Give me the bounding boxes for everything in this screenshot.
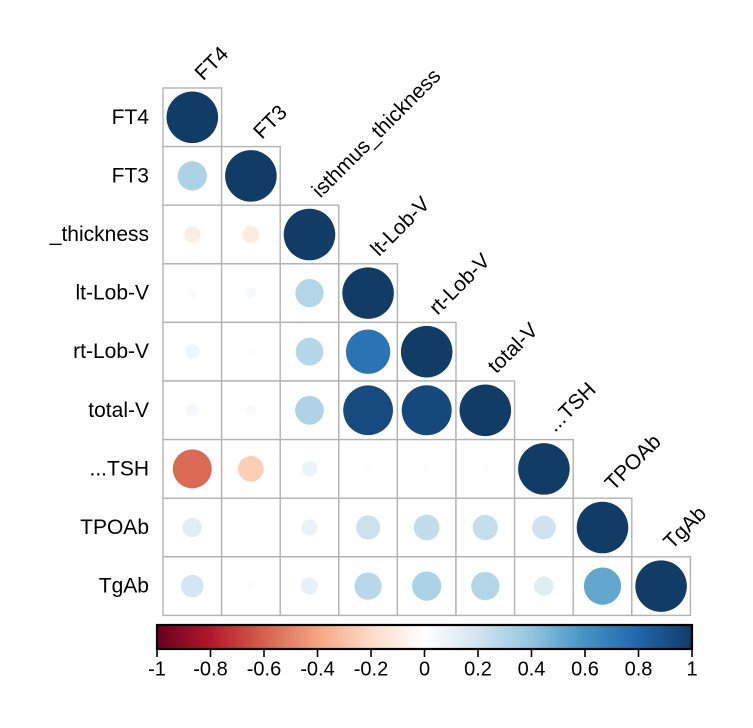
correlation-circle (414, 515, 440, 541)
correlation-circle (173, 449, 212, 488)
correlation-circle (423, 465, 430, 472)
legend-tick-label: 0.4 (518, 659, 546, 681)
legend-tick-label: 0.2 (464, 659, 492, 681)
correlation-circle (186, 404, 199, 417)
correlation-circle (364, 465, 371, 472)
row-label: TPOAb (80, 516, 149, 539)
correlation-circle (301, 578, 318, 595)
correlation-circle (238, 456, 264, 482)
legend-tick-label: 0 (419, 659, 430, 681)
correlation-circle (178, 161, 207, 190)
correlation-circle (584, 568, 621, 605)
legend-tick-label: 1 (686, 659, 697, 681)
correlation-circle (346, 330, 390, 374)
correlation-circle (295, 396, 324, 425)
correlation-circle (635, 560, 687, 612)
legend-tick-label: 0.6 (571, 659, 599, 681)
legend-tick-label: 0.8 (625, 659, 653, 681)
correlation-circle (343, 385, 393, 435)
row-label: ...TSH (89, 457, 149, 480)
correlation-circle (184, 226, 200, 242)
legend-tick-label: -0.2 (354, 659, 388, 681)
row-label: FT4 (112, 106, 150, 129)
legend-tick-label: -0.8 (193, 659, 227, 681)
correlation-circle (532, 516, 556, 540)
correlation-circle (302, 461, 317, 476)
row-label: TgAb (99, 575, 149, 598)
correlation-circle (534, 576, 553, 595)
correlation-circle (401, 326, 453, 378)
correlation-circle (402, 385, 452, 435)
correlation-circle (295, 279, 323, 307)
correlation-circle (356, 515, 380, 539)
correlation-circle (473, 515, 498, 540)
legend-tick-label: -0.4 (300, 659, 334, 681)
correlation-circle (301, 519, 317, 535)
correlation-circle (246, 405, 256, 415)
correlation-matrix-chart: FT4FT3isthmus_thicknesslt-Lob-Vrt-Lob-Vt… (0, 0, 753, 728)
correlation-circle (225, 150, 277, 202)
correlation-circle (188, 289, 197, 298)
correlation-circle (183, 518, 202, 537)
row-label: lt-Lob-V (75, 282, 149, 305)
correlation-circle (242, 226, 259, 243)
correlation-circle (577, 502, 629, 554)
correlation-circle (518, 443, 570, 495)
correlation-circle (482, 465, 489, 472)
correlation-circle (296, 338, 324, 366)
correlation-circle (342, 267, 394, 319)
row-label: _thickness (49, 223, 149, 246)
correlation-circle (412, 572, 441, 601)
correlation-circle (354, 572, 381, 599)
legend-tick-label: -1 (148, 659, 166, 681)
row-label: FT3 (112, 164, 149, 187)
legend-tick-label: -0.6 (247, 659, 281, 681)
correlation-circle (247, 582, 254, 589)
row-label: total-V (88, 399, 149, 422)
correlation-circle (167, 92, 219, 144)
row-label: rt-Lob-V (73, 340, 149, 363)
correlation-circle (247, 348, 254, 355)
correlation-circle (185, 344, 200, 359)
correlation-circle (460, 385, 512, 437)
correlation-circle (284, 209, 336, 261)
legend-gradient-bar (157, 625, 692, 649)
correlation-circle (246, 288, 256, 298)
correlation-circle (471, 572, 499, 600)
correlation-circle (181, 575, 203, 597)
correlation-circle (248, 525, 253, 530)
